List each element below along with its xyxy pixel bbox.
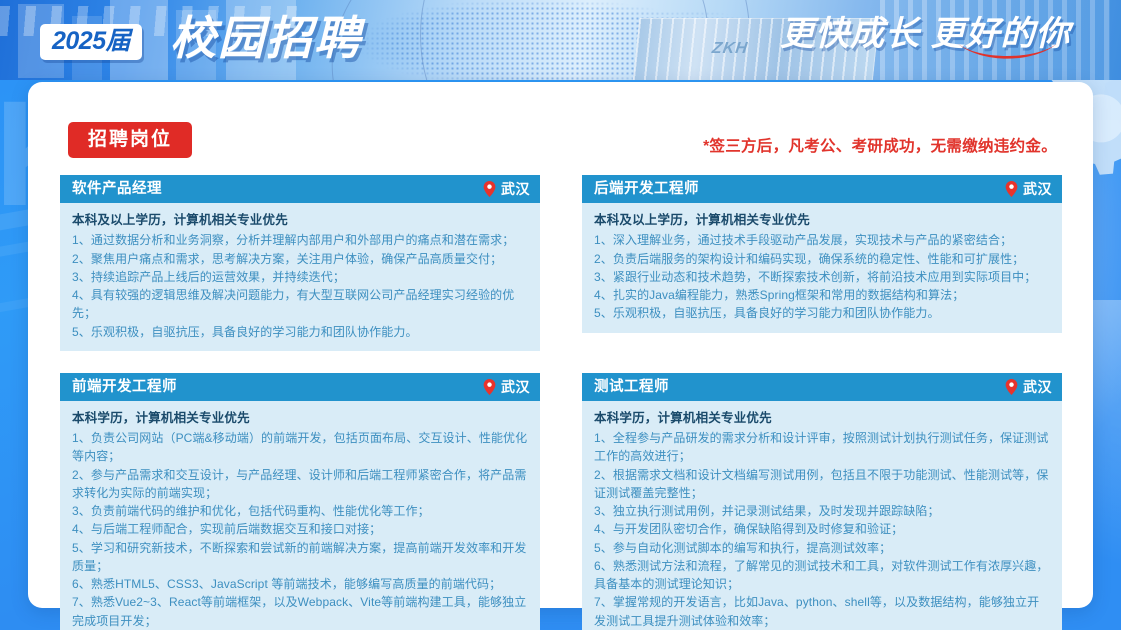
job-title: 测试工程师 <box>594 380 669 395</box>
job-requirement-item: 1、通过数据分析和业务洞察，分析并理解内部用户和外部用户的痛点和潜在需求； <box>72 231 528 249</box>
job-requirement-item: 2、根据需求文档和设计文档编写测试用例，包括且不限于功能测试、性能测试等，保证测… <box>594 466 1050 502</box>
job-title: 后端开发工程师 <box>594 182 699 197</box>
brand-mark: ZKH <box>711 40 749 58</box>
job-location: 武汉 <box>483 379 530 395</box>
job-card-body: 本科学历，计算机相关专业优先1、负责公司网站（PC端&移动端）的前端开发，包括页… <box>60 401 540 630</box>
job-requirement-item: 5、学习和研究新技术，不断探索和尝试新的前端解决方案，提高前端开发效率和开发质量… <box>72 539 528 575</box>
job-location: 武汉 <box>1005 379 1052 395</box>
job-card[interactable]: 软件产品经理武汉本科及以上学历，计算机相关专业优先1、通过数据分析和业务洞察，分… <box>60 175 540 351</box>
poster-root: K ZKH 2025届 校园招聘 更快成长 更好的你 <box>0 0 1121 630</box>
job-requirement-item: 2、参与产品需求和交互设计，与产品经理、设计师和后端工程师紧密合作，将产品需求转… <box>72 466 528 502</box>
job-requirement-item: 5、参与自动化测试脚本的编写和执行，提高测试效率； <box>594 539 1050 557</box>
job-card[interactable]: 后端开发工程师武汉本科及以上学历，计算机相关专业优先1、深入理解业务，通过技术手… <box>582 175 1062 351</box>
year-badge: 2025届 <box>40 24 142 60</box>
job-card-body: 本科及以上学历，计算机相关专业优先1、通过数据分析和业务洞察，分析并理解内部用户… <box>60 203 540 351</box>
job-requirement-item: 2、负责后端服务的架构设计和编码实现，确保系统的稳定性、性能和可扩展性； <box>594 250 1050 268</box>
map-pin-icon <box>483 379 496 395</box>
banner-title: 校园招聘 <box>170 13 362 64</box>
job-requirement-item: 3、负责前端代码的维护和优化，包括代码重构、性能优化等工作； <box>72 502 528 520</box>
job-location-label: 武汉 <box>501 380 530 394</box>
job-card-header: 测试工程师武汉 <box>582 373 1062 401</box>
job-title: 软件产品经理 <box>72 182 162 197</box>
job-requirement-item: 7、掌握常规的开发语言，比如Java、python、shell等，以及数据结构，… <box>594 593 1050 629</box>
job-requirement-item: 4、具有较强的逻辑思维及解决问题能力，有大型互联网公司产品经理实习经验的优先； <box>72 286 528 322</box>
map-pin-icon <box>1005 181 1018 197</box>
job-requirement-item: 7、熟悉Vue2~3、React等前端框架，以及Webpack、Vite等前端构… <box>72 593 528 629</box>
job-requirement-item: 4、扎实的Java编程能力，熟悉Spring框架和常用的数据结构和算法； <box>594 286 1050 304</box>
job-requirement-item: 3、独立执行测试用例，并记录测试结果，及时发现并跟踪缺陷； <box>594 502 1050 520</box>
job-card-header: 前端开发工程师武汉 <box>60 373 540 401</box>
job-requirement-item: 6、熟悉HTML5、CSS3、JavaScript 等前端技术，能够编写高质量的… <box>72 575 528 593</box>
job-title: 前端开发工程师 <box>72 380 177 395</box>
job-requirement-item: 3、紧跟行业动态和技术趋势，不断探索技术创新，将前沿技术应用到实际项目中； <box>594 268 1050 286</box>
job-location: 武汉 <box>1005 181 1052 197</box>
job-requirement-item: 3、持续追踪产品上线后的运营效果，并持续迭代； <box>72 268 528 286</box>
job-card-body: 本科及以上学历，计算机相关专业优先1、深入理解业务，通过技术手段驱动产品发展，实… <box>582 203 1062 333</box>
job-requirement-item: 1、全程参与产品研发的需求分析和设计评审，按照测试计划执行测试任务，保证测试工作… <box>594 429 1050 465</box>
job-location-label: 武汉 <box>1023 380 1052 394</box>
job-location: 武汉 <box>483 181 530 197</box>
map-pin-icon <box>483 181 496 197</box>
job-requirement-item: 1、深入理解业务，通过技术手段驱动产品发展，实现技术与产品的紧密结合； <box>594 231 1050 249</box>
section-title-badge: 招聘岗位 <box>68 122 192 158</box>
job-requirement-title: 本科及以上学历，计算机相关专业优先 <box>72 211 528 230</box>
job-requirement-item: 4、与后端工程师配合，实现前后端数据交互和接口对接； <box>72 520 528 538</box>
job-card[interactable]: 测试工程师武汉本科学历，计算机相关专业优先1、全程参与产品研发的需求分析和设计评… <box>582 373 1062 630</box>
content-panel: 招聘岗位 *签三方后，凡考公、考研成功，无需缴纳违约金。 软件产品经理武汉本科及… <box>28 82 1093 608</box>
banner-slogan: 更快成长 更好的你 <box>780 16 1070 53</box>
job-card[interactable]: 前端开发工程师武汉本科学历，计算机相关专业优先1、负责公司网站（PC端&移动端）… <box>60 373 540 630</box>
job-requirement-title: 本科学历，计算机相关专业优先 <box>594 409 1050 428</box>
job-card-header: 后端开发工程师武汉 <box>582 175 1062 203</box>
job-card-header: 软件产品经理武汉 <box>60 175 540 203</box>
job-requirement-item: 1、负责公司网站（PC端&移动端）的前端开发，包括页面布局、交互设计、性能优化等… <box>72 429 528 465</box>
job-requirement-item: 2、聚焦用户痛点和需求，思考解决方案，关注用户体验，确保产品高质量交付； <box>72 250 528 268</box>
policy-note: *签三方后，凡考公、考研成功，无需缴纳违约金。 <box>703 134 1057 156</box>
map-pin-icon <box>1005 379 1018 395</box>
job-location-label: 武汉 <box>1023 182 1052 196</box>
job-requirement-title: 本科及以上学历，计算机相关专业优先 <box>594 211 1050 230</box>
page-banner: ZKH 2025届 校园招聘 更快成长 更好的你 <box>0 0 1121 80</box>
job-requirement-title: 本科学历，计算机相关专业优先 <box>72 409 528 428</box>
job-requirement-item: 4、与开发团队密切合作，确保缺陷得到及时修复和验证； <box>594 520 1050 538</box>
job-card-grid: 软件产品经理武汉本科及以上学历，计算机相关专业优先1、通过数据分析和业务洞察，分… <box>60 175 1062 630</box>
job-requirement-item: 5、乐观积极，自驱抗压，具备良好的学习能力和团队协作能力。 <box>594 304 1050 322</box>
job-location-label: 武汉 <box>501 182 530 196</box>
job-requirement-item: 5、乐观积极，自驱抗压，具备良好的学习能力和团队协作能力。 <box>72 323 528 341</box>
job-requirement-item: 6、熟悉测试方法和流程，了解常见的测试技术和工具，对软件测试工作有浓厚兴趣，具备… <box>594 557 1050 593</box>
job-card-body: 本科学历，计算机相关专业优先1、全程参与产品研发的需求分析和设计评审，按照测试计… <box>582 401 1062 630</box>
